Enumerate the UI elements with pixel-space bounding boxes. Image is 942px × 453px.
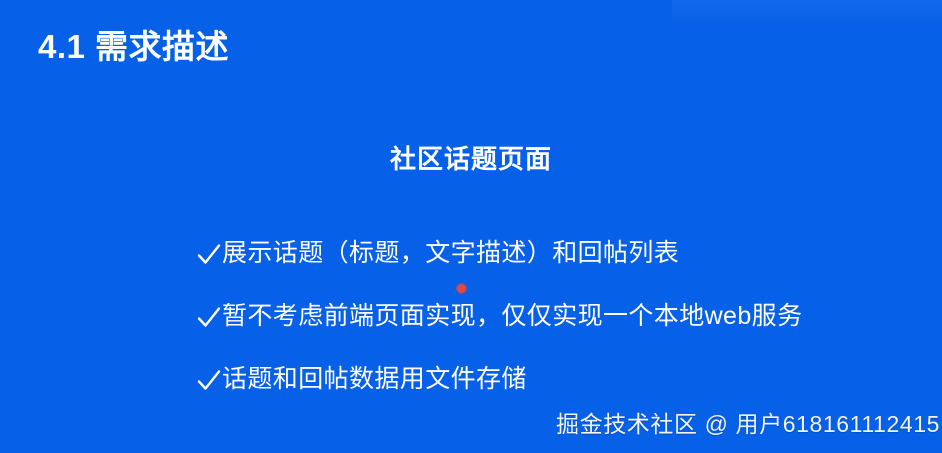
section-subtitle: 社区话题页面	[0, 142, 942, 176]
top-right-sheen	[672, 0, 942, 26]
list-item: 话题和回帖数据用文件存储	[196, 364, 896, 394]
page-title: 4.1 需求描述	[38, 26, 229, 68]
slide-canvas: 4.1 需求描述 社区话题页面 展示话题（标题，文字描述）和回帖列表 暂不考虑前…	[0, 0, 942, 453]
watermark: 掘金技术社区 @ 用户618161112415	[556, 409, 940, 439]
check-icon	[196, 366, 222, 396]
requirements-list: 展示话题（标题，文字描述）和回帖列表 暂不考虑前端页面实现，仅仅实现一个本地we…	[196, 238, 896, 394]
list-item-label: 暂不考虑前端页面实现，仅仅实现一个本地web服务	[222, 301, 802, 331]
check-icon	[196, 240, 222, 270]
list-item: 暂不考虑前端页面实现，仅仅实现一个本地web服务	[196, 301, 896, 331]
list-item: 展示话题（标题，文字描述）和回帖列表	[196, 238, 896, 268]
list-item-label: 展示话题（标题，文字描述）和回帖列表	[222, 238, 679, 268]
check-icon	[196, 303, 222, 333]
list-item-label: 话题和回帖数据用文件存储	[222, 364, 527, 394]
